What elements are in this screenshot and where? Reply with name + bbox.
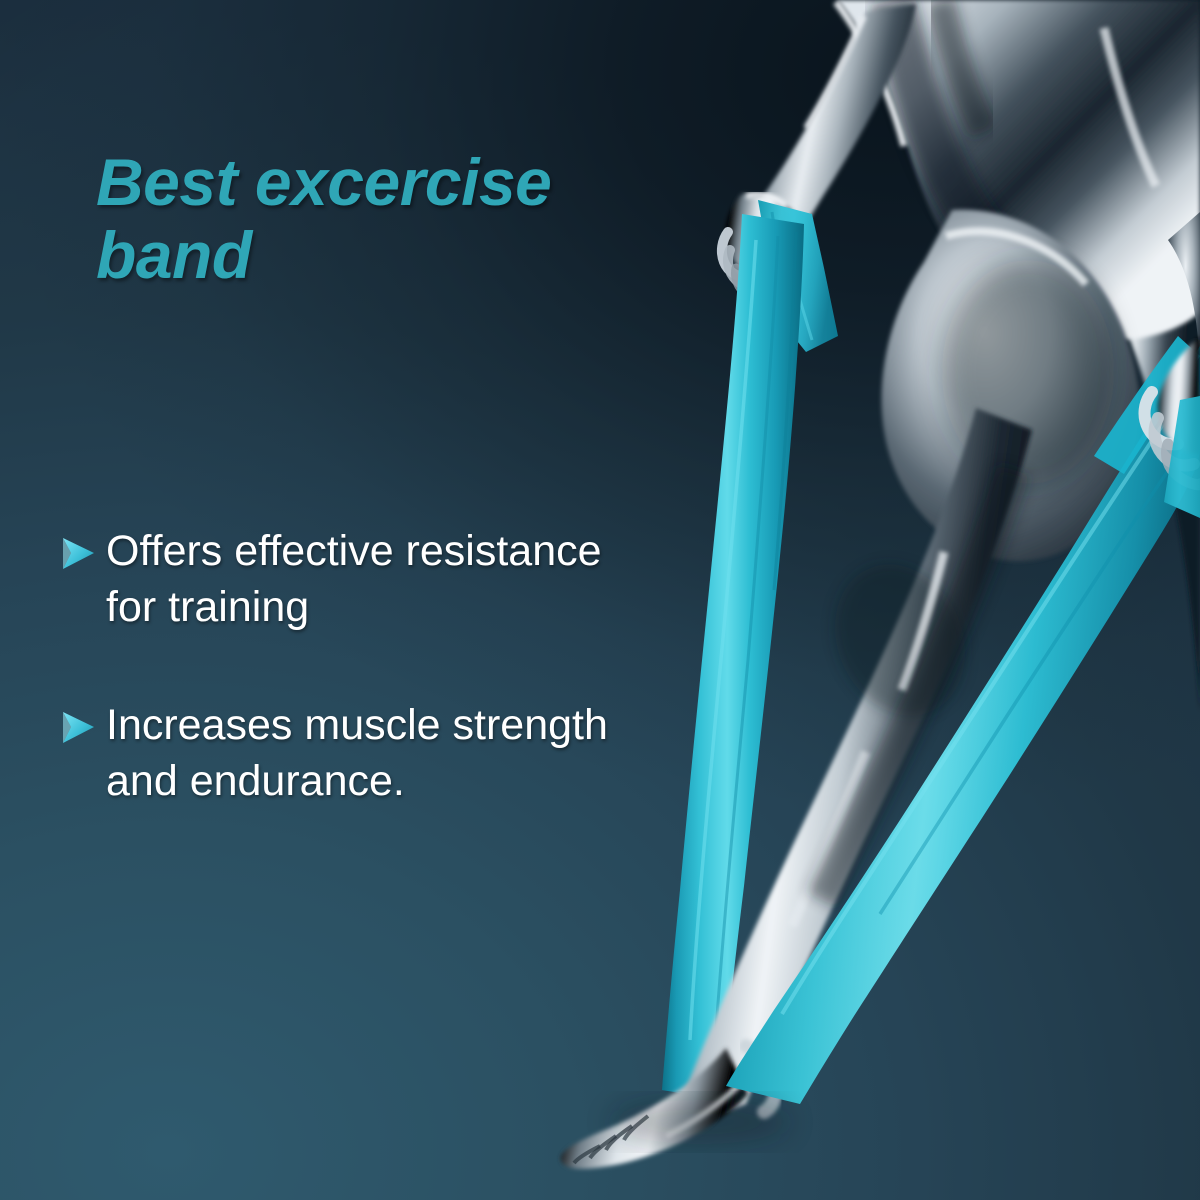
list-item: Increases muscle strength and endurance. — [58, 698, 688, 810]
benefits-list: Offers effective resistance for training — [58, 524, 688, 810]
arrow-bullet-icon — [58, 532, 98, 576]
headline-block: Best excercise band — [96, 146, 696, 291]
list-item: Offers effective resistance for training — [58, 524, 688, 636]
page-title: Best excercise band — [96, 146, 656, 291]
arrow-bullet-icon — [58, 706, 98, 750]
list-item-label: Increases muscle strength and endurance. — [106, 698, 608, 810]
poster-canvas: Best excercise band Offers effecti — [0, 0, 1200, 1200]
list-item-label: Offers effective resistance for training — [106, 524, 602, 636]
